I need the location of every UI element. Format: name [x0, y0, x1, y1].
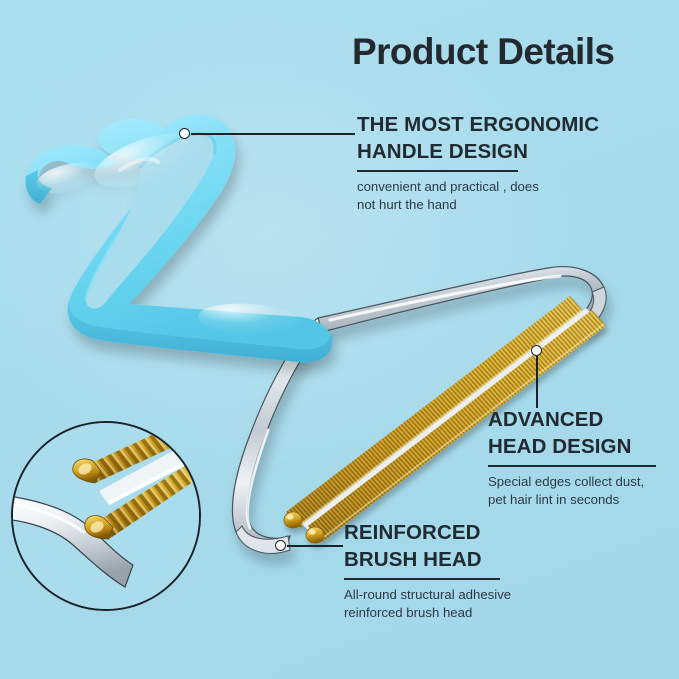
leader-dot-icon-brush: [275, 540, 286, 551]
callout-underline-handle: [357, 170, 518, 172]
callout-heading-head: ADVANCED HEAD DESIGN: [488, 407, 678, 460]
callout-advanced-head: ADVANCED HEAD DESIGN Special edges colle…: [488, 407, 678, 508]
callout-underline-brush: [344, 578, 500, 580]
callout-reinforced-brush: REINFORCED BRUSH HEAD All-round structur…: [344, 520, 624, 621]
leader-line-head: [536, 356, 538, 408]
leader-dot-icon-head: [531, 345, 542, 356]
product-details-infographic: Product Details THE MOST ERGONOMIC HANDL…: [0, 0, 679, 679]
callout-subtext-brush: All-round structural adhesive reinforced…: [344, 586, 624, 621]
page-title: Product Details: [352, 33, 652, 72]
leader-line-handle: [191, 133, 355, 135]
callout-heading-brush: REINFORCED BRUSH HEAD: [344, 520, 624, 573]
callout-heading-handle: THE MOST ERGONOMIC HANDLE DESIGN: [357, 112, 657, 165]
callout-ergonomic-handle: THE MOST ERGONOMIC HANDLE DESIGN conveni…: [357, 112, 657, 213]
leader-line-brush: [287, 545, 343, 547]
blue-handle-icon: [24, 112, 332, 362]
callout-subtext-head: Special edges collect dust, pet hair lin…: [488, 473, 679, 508]
leader-dot-icon-handle: [179, 128, 190, 139]
callout-subtext-handle: convenient and practical , does not hurt…: [357, 178, 657, 213]
magnified-detail-inset: [11, 421, 201, 611]
callout-underline-head: [488, 465, 656, 467]
